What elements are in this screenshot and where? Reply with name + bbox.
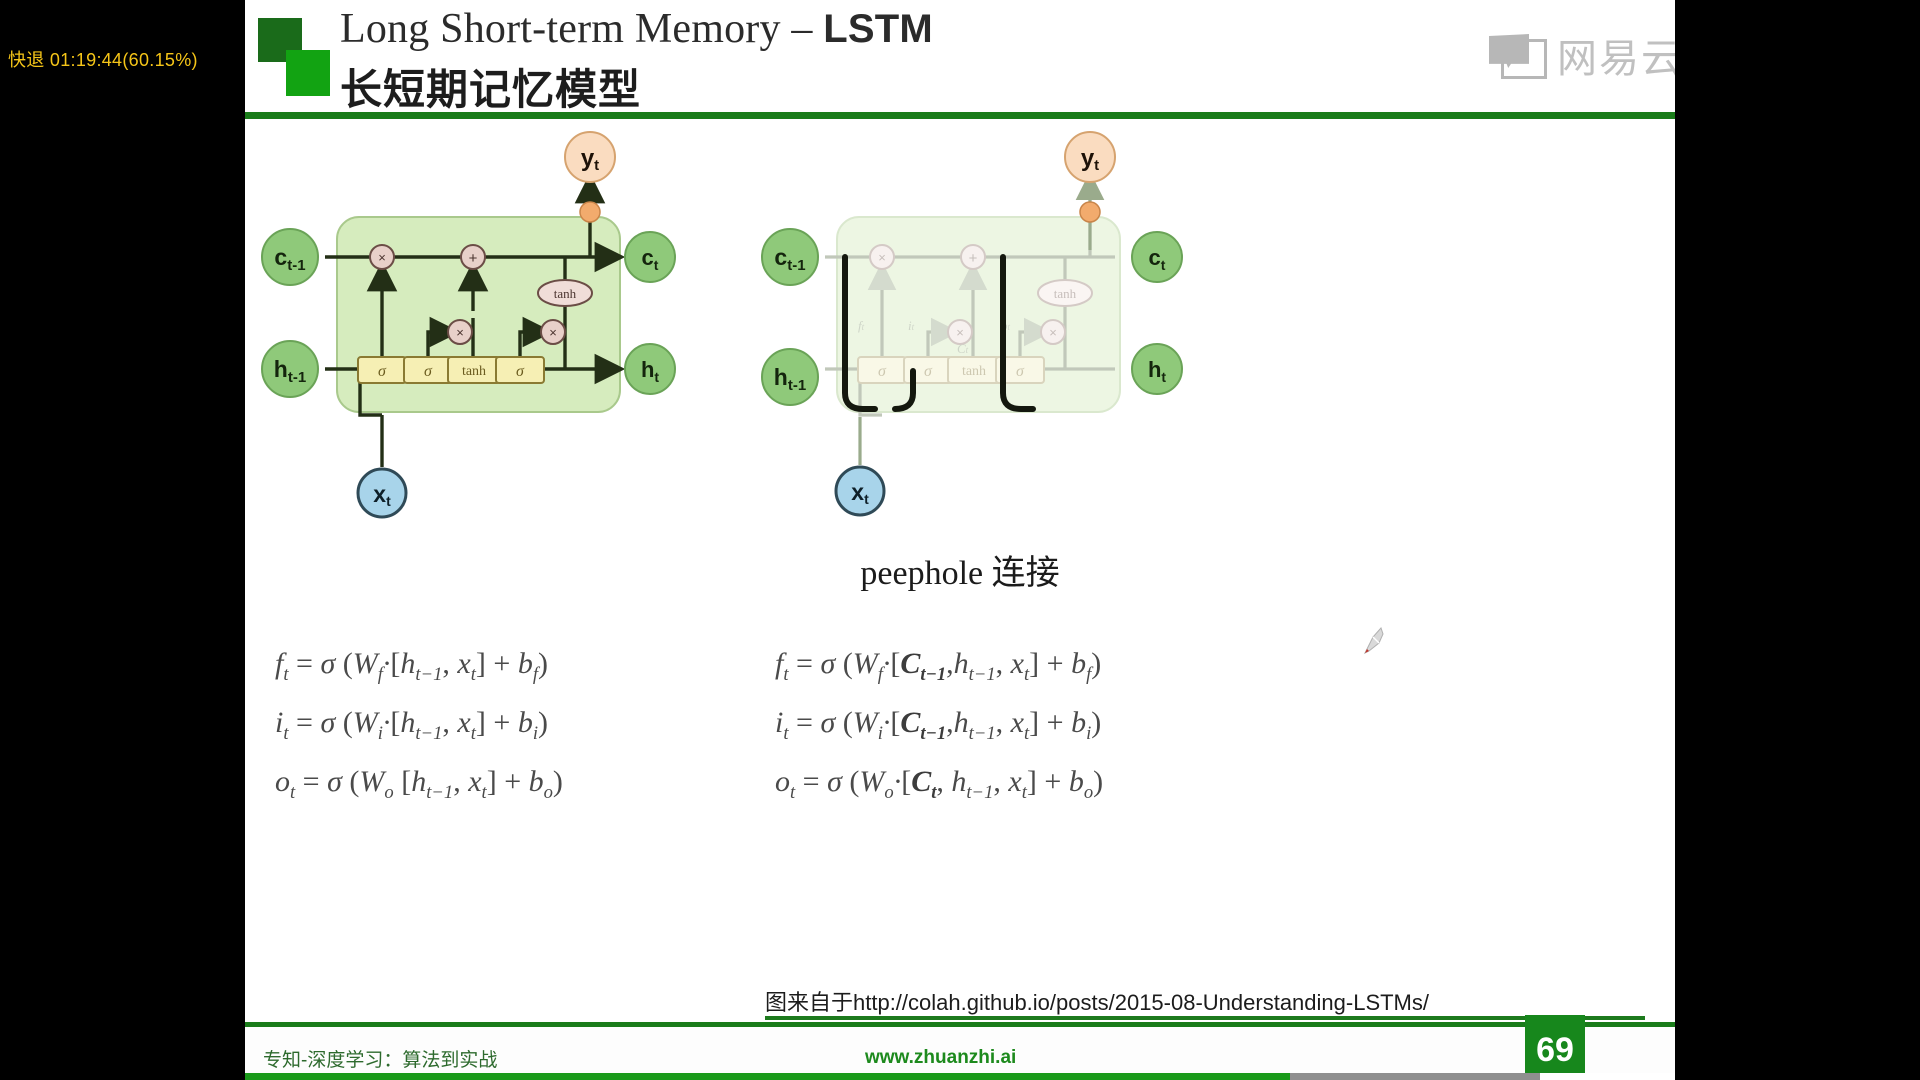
op-multiply-output: ×: [541, 320, 565, 344]
svg-text:×: ×: [456, 325, 464, 340]
formula-row: it = σ (Wi·[Ct−1,ht−1, xt] + bi): [775, 699, 1103, 758]
book-icon: [1487, 33, 1543, 77]
svg-text:σ: σ: [378, 363, 387, 380]
title-english-plain: Long Short-term Memory –: [340, 6, 823, 52]
activation-tanh-ellipse: tanh: [538, 280, 592, 306]
svg-text:tanh: tanh: [962, 364, 986, 379]
svg-text:tanh: tanh: [554, 286, 577, 301]
svg-text:σ: σ: [424, 363, 433, 380]
standard-lstm-diagram: σ σ tanh σ: [245, 125, 765, 525]
formula-row: it = σ (Wi·[ht−1, xt] + bi): [275, 699, 563, 758]
svg-text:×: ×: [1049, 325, 1057, 340]
op-multiply-forget: ×: [370, 245, 394, 269]
book-icon-cover: [1489, 34, 1529, 68]
page-title-chinese: 长短期记忆模型: [340, 56, 641, 117]
gate-box-forget: σ: [358, 357, 406, 383]
decoration-square-bright: [286, 50, 330, 96]
formulas-peephole-lstm: ft = σ (Wf·[Ct−1,ht−1, xt] + bf) it = σ …: [775, 640, 1103, 817]
formula-row: ot = σ (Wo·[Ct, ht−1, xt] + bo): [775, 758, 1103, 817]
diagram-caption: peephole 连接: [245, 545, 1675, 594]
source-underline-rule: [765, 1016, 1645, 1020]
node-c-prev: ct-1: [262, 229, 318, 285]
output-tap-node: [1080, 202, 1100, 222]
netease-watermark: 网易云: [1487, 26, 1675, 84]
node-x-input: xt: [836, 417, 884, 515]
peephole-lstm-diagram: σ σ tanh σ × + ×: [745, 125, 1305, 525]
gate-box-candidate: tanh: [448, 357, 500, 383]
watermark-label: 网易云: [1557, 26, 1675, 84]
footer-progress-bar-white: [1540, 1073, 1675, 1080]
node-h-prev: ht-1: [762, 349, 818, 405]
formula-row: ft = σ (Wf·[ht−1, xt] + bf): [275, 640, 563, 699]
node-h-out: ht: [1132, 344, 1182, 394]
slide-header: Long Short-term Memory – LSTM 长短期记忆模型 网易…: [245, 0, 1675, 120]
svg-text:σ: σ: [878, 363, 887, 380]
node-c-out: ct: [1132, 232, 1182, 282]
node-c-out: ct: [625, 232, 675, 282]
node-h-out: ht: [625, 344, 675, 394]
footer-course-title: 专知-深度学习：算法到实战: [263, 1045, 497, 1072]
node-c-prev: ct-1: [762, 229, 818, 285]
svg-text:×: ×: [549, 325, 557, 340]
pen-cursor-icon: [1351, 625, 1385, 659]
footer-website[interactable]: www.zhuanzhi.ai: [865, 1047, 1016, 1069]
svg-text:σ: σ: [924, 363, 933, 380]
footer-progress-bar-grey: [1290, 1073, 1540, 1080]
node-y-out: yt: [565, 132, 615, 182]
svg-text:σ: σ: [1016, 363, 1025, 380]
lstm-diagrams-area: σ σ tanh σ: [245, 125, 1675, 525]
svg-text:σ: σ: [516, 363, 525, 380]
video-player-stage: 快退 01:19:44(60.15%) Long Short-term Memo…: [0, 0, 1920, 1080]
header-divider-rule: [245, 112, 1675, 119]
svg-text:×: ×: [956, 325, 964, 340]
playback-time-overlay: 快退 01:19:44(60.15%): [8, 46, 198, 72]
formula-row: ot = σ (Wo [ht−1, xt] + bo): [275, 758, 563, 817]
gate-box-input: σ: [404, 357, 452, 383]
formulas-area: ft = σ (Wf·[ht−1, xt] + bf) it = σ (Wi·[…: [245, 640, 1675, 810]
op-add: +: [461, 245, 485, 269]
source-attribution: 图来自于http://colah.github.io/posts/2015-08…: [765, 985, 1645, 1017]
peephole-base-faded: σ σ tanh σ × + ×: [825, 185, 1120, 415]
svg-text:×: ×: [378, 250, 386, 265]
page-title-english: Long Short-term Memory – LSTM: [340, 5, 933, 53]
page-number-badge: 69: [1525, 1015, 1585, 1080]
presentation-slide: Long Short-term Memory – LSTM 长短期记忆模型 网易…: [245, 0, 1675, 1080]
svg-text:+: +: [469, 250, 478, 267]
svg-text:tanh: tanh: [1054, 286, 1077, 301]
output-tap-node: [580, 202, 600, 222]
svg-text:+: +: [969, 250, 978, 267]
op-multiply-input: ×: [448, 320, 472, 344]
title-english-acronym: LSTM: [823, 7, 933, 51]
formulas-standard-lstm: ft = σ (Wf·[ht−1, xt] + bf) it = σ (Wi·[…: [275, 640, 563, 817]
node-x-input: xt: [358, 415, 406, 517]
svg-text:tanh: tanh: [462, 364, 486, 379]
node-h-prev: ht-1: [262, 341, 318, 397]
gate-boxes: σ σ tanh σ: [358, 357, 544, 383]
slide-footer: 专知-深度学习：算法到实战 www.zhuanzhi.ai 69: [245, 1022, 1675, 1080]
svg-text:×: ×: [878, 250, 886, 265]
formula-row: ft = σ (Wf·[Ct−1,ht−1, xt] + bf): [775, 640, 1103, 699]
gate-box-output: σ: [496, 357, 544, 383]
